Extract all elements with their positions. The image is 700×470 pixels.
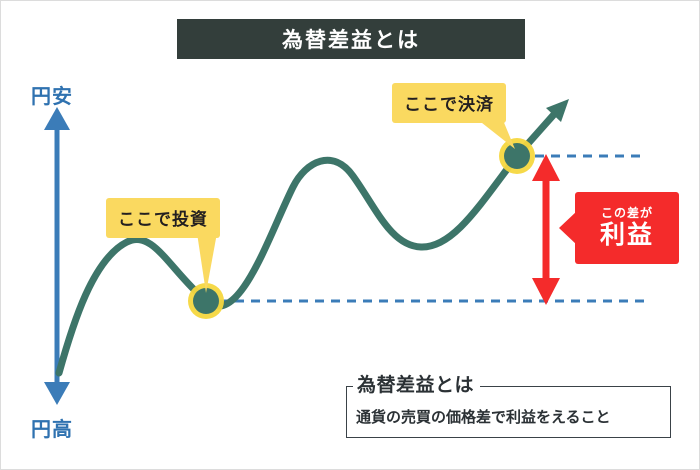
profit-box-subtitle: この差が	[601, 207, 653, 220]
profit-double-arrow	[532, 154, 560, 305]
caption-body: 通貨の売買の価格差で利益をえること	[356, 406, 611, 427]
callout-settle: ここで決済	[392, 83, 506, 123]
rate-curve	[59, 111, 557, 373]
infographic-canvas: 為替差益とは 円安 円高	[0, 0, 700, 470]
callout-tail-invest	[197, 233, 217, 293]
callout-invest-label: ここで投資	[118, 210, 208, 230]
callout-settle-label: ここで決済	[404, 95, 494, 115]
profit-box: この差が 利益	[575, 192, 679, 264]
marker-exit	[504, 143, 530, 169]
profit-box-title: 利益	[600, 221, 654, 250]
callout-invest: ここで投資	[106, 198, 220, 238]
caption-heading: 為替差益とは	[353, 370, 480, 397]
